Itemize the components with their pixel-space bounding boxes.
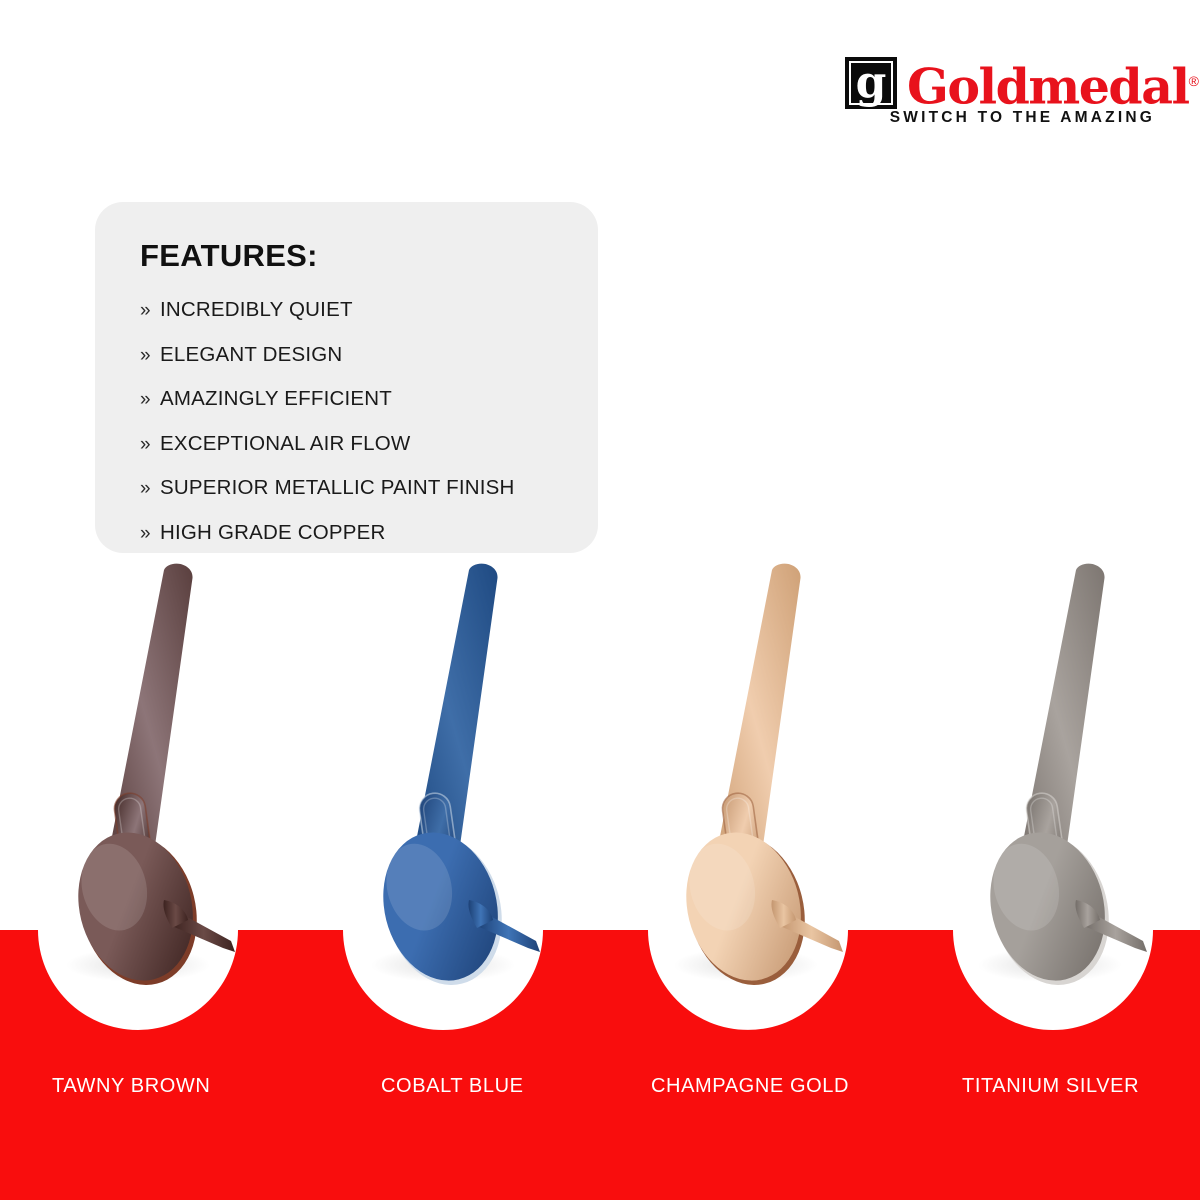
- features-panel: FEATURES: » INCREDIBLY QUIET » ELEGANT D…: [95, 202, 598, 553]
- brand-wordmark: Goldmedal®: [907, 55, 1199, 112]
- features-list: » INCREDIBLY QUIET » ELEGANT DESIGN » AM…: [140, 298, 598, 545]
- red-banner-shape: [0, 930, 1200, 1200]
- feature-item: » HIGH GRADE COPPER: [140, 521, 598, 545]
- feature-label: AMAZINGLY EFFICIENT: [160, 387, 392, 411]
- registered-trademark-icon: ®: [1189, 73, 1199, 89]
- brand-tagline: SWITCH TO THE AMAZING: [890, 109, 1155, 127]
- chevron-double-right-icon: »: [140, 523, 160, 545]
- red-band-path: [0, 930, 1200, 1200]
- feature-item: » ELEGANT DESIGN: [140, 343, 598, 367]
- chevron-double-right-icon: »: [140, 300, 160, 322]
- product-fan-titanium-silver: [972, 560, 1200, 990]
- color-name-labels: TAWNY BROWN COBALT BLUE CHAMPAGNE GOLD T…: [0, 1075, 1200, 1115]
- feature-label: ELEGANT DESIGN: [160, 343, 342, 367]
- brand-logo: g Goldmedal® SWITCH TO THE AMAZING: [845, 55, 1155, 135]
- chevron-double-right-icon: »: [140, 389, 160, 411]
- product-label-tawny-brown: TAWNY BROWN: [52, 1075, 210, 1098]
- product-label-champagne-gold: CHAMPAGNE GOLD: [651, 1075, 849, 1098]
- red-banner-band: [0, 930, 1200, 1200]
- fan-illustration: [972, 560, 1200, 990]
- product-label-titanium-silver: TITANIUM SILVER: [962, 1075, 1139, 1098]
- feature-label: EXCEPTIONAL AIR FLOW: [160, 432, 410, 456]
- fan-illustration: [365, 560, 625, 990]
- product-fan-tawny-brown: [60, 560, 320, 990]
- brand-name-text: Goldmedal: [907, 57, 1189, 115]
- logo-row: g Goldmedal®: [845, 55, 1155, 113]
- chevron-double-right-icon: »: [140, 345, 160, 367]
- feature-label: SUPERIOR METALLIC PAINT FINISH: [160, 476, 515, 500]
- poster-canvas: g Goldmedal® SWITCH TO THE AMAZING FEATU…: [0, 0, 1200, 1200]
- feature-label: HIGH GRADE COPPER: [160, 521, 386, 545]
- product-fan-cobalt-blue: [365, 560, 625, 990]
- feature-item: » EXCEPTIONAL AIR FLOW: [140, 432, 598, 456]
- product-label-cobalt-blue: COBALT BLUE: [381, 1075, 524, 1098]
- fan-illustration: [60, 560, 320, 990]
- goldmedal-g-mark-icon: g: [845, 57, 897, 109]
- features-title: FEATURES:: [140, 238, 598, 274]
- fan-illustration: [668, 560, 928, 990]
- logo-mark-letter: g: [845, 61, 897, 105]
- feature-label: INCREDIBLY QUIET: [160, 298, 353, 322]
- feature-item: » SUPERIOR METALLIC PAINT FINISH: [140, 476, 598, 500]
- feature-item: » AMAZINGLY EFFICIENT: [140, 387, 598, 411]
- chevron-double-right-icon: »: [140, 434, 160, 456]
- feature-item: » INCREDIBLY QUIET: [140, 298, 598, 322]
- product-fan-champagne-gold: [668, 560, 928, 990]
- chevron-double-right-icon: »: [140, 478, 160, 500]
